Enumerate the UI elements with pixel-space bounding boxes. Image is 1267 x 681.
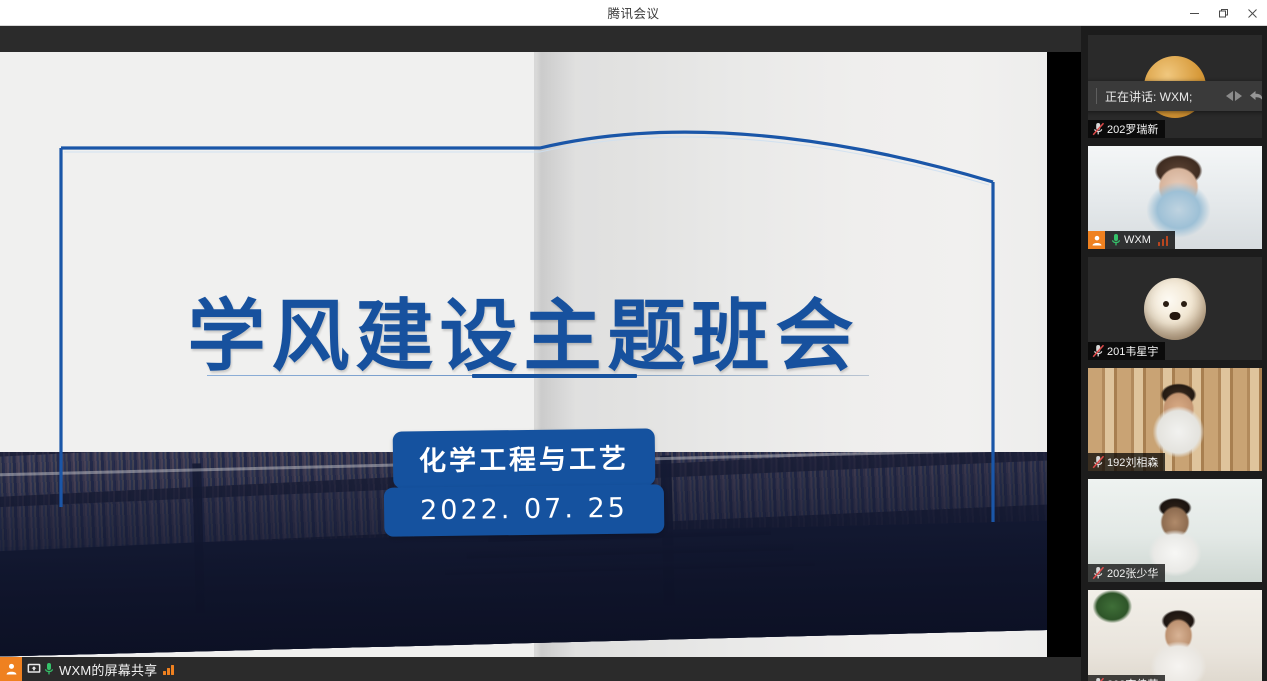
participant-label: 202李佳莹 (1088, 675, 1165, 681)
participant-name: 201韦星宇 (1107, 343, 1158, 359)
microphone-muted-icon (1092, 122, 1105, 136)
participant-label: WXM (1088, 231, 1175, 249)
share-top-bar (0, 26, 1081, 52)
chevron-collapse-icon[interactable] (1224, 89, 1246, 103)
tencent-meeting-window: 腾讯会议 (0, 0, 1267, 681)
title-divider (207, 374, 869, 377)
participant-rail[interactable]: 202罗瑞新 正在讲话: WXM; (1081, 26, 1267, 681)
microphone-icon (43, 662, 55, 676)
speaking-banner[interactable]: 正在讲话: WXM; (1088, 81, 1262, 111)
presentation-slide: 学风建设主题班会 化学工程与工艺 2022. 07. 25 (0, 52, 1047, 657)
share-status-icons (22, 662, 59, 676)
participant-tile[interactable]: 202李佳莹 (1088, 590, 1262, 681)
minimize-button[interactable] (1180, 0, 1209, 26)
share-status-label: WXM的屏幕共享 (59, 660, 163, 679)
screen-share-status[interactable]: WXM的屏幕共享 (0, 657, 184, 681)
participant-name: 202罗瑞新 (1107, 121, 1158, 137)
person-icon (0, 657, 22, 681)
signal-bars-icon (163, 664, 174, 675)
microphone-muted-icon (1092, 677, 1105, 681)
participant-tile[interactable]: 202张少华 (1088, 479, 1262, 582)
microphone-muted-icon (1092, 566, 1105, 580)
participant-name: 202张少华 (1107, 565, 1158, 581)
restore-icon (1218, 8, 1229, 19)
banner-actions[interactable] (1224, 89, 1262, 103)
dog-eye-left (1163, 301, 1169, 307)
slide-major-pill: 化学工程与工艺 (392, 428, 655, 488)
participant-name: 202李佳莹 (1107, 676, 1158, 681)
participant-tile[interactable]: 201韦星宇 (1088, 257, 1262, 360)
restore-button[interactable] (1209, 0, 1238, 26)
close-icon (1247, 8, 1258, 19)
microphone-muted-icon (1092, 344, 1105, 358)
dog-nose (1170, 312, 1181, 320)
participant-tile[interactable]: WXM (1088, 146, 1262, 249)
participant-label: 202罗瑞新 (1088, 120, 1165, 138)
slide-date-pill: 2022. 07. 25 (383, 484, 663, 536)
participant-label: 202张少华 (1088, 564, 1165, 582)
close-button[interactable] (1238, 0, 1267, 26)
reply-arrow-icon[interactable] (1249, 89, 1262, 103)
participant-label: 201韦星宇 (1088, 342, 1165, 360)
participant-name: WXM (1124, 234, 1151, 246)
banner-divider (1096, 88, 1097, 104)
microphone-icon (1110, 233, 1122, 247)
avatar (1144, 278, 1206, 340)
dog-eye-right (1181, 301, 1187, 307)
microphone-muted-icon (1092, 455, 1105, 469)
participant-tile[interactable]: 192刘相森 (1088, 368, 1262, 471)
speaking-text: 正在讲话: WXM; (1105, 88, 1216, 105)
minimize-icon (1189, 8, 1200, 19)
app-title: 腾讯会议 (607, 3, 659, 22)
participant-tile[interactable]: 202罗瑞新 正在讲话: WXM; (1088, 35, 1262, 138)
window-controls (1180, 0, 1267, 26)
title-bar: 腾讯会议 (0, 0, 1267, 26)
divider-accent-segment (472, 374, 638, 378)
person-icon (1088, 231, 1105, 249)
shared-screen-region: 学风建设主题班会 化学工程与工艺 2022. 07. 25 (0, 26, 1081, 681)
participant-name: 192刘相森 (1107, 454, 1158, 470)
video-thumbnail (1088, 590, 1262, 681)
screen-share-icon (27, 663, 41, 675)
slide-title: 学风建设主题班会 (0, 274, 1047, 386)
signal-bars-icon (1158, 235, 1169, 246)
participant-label: 192刘相森 (1088, 453, 1165, 471)
